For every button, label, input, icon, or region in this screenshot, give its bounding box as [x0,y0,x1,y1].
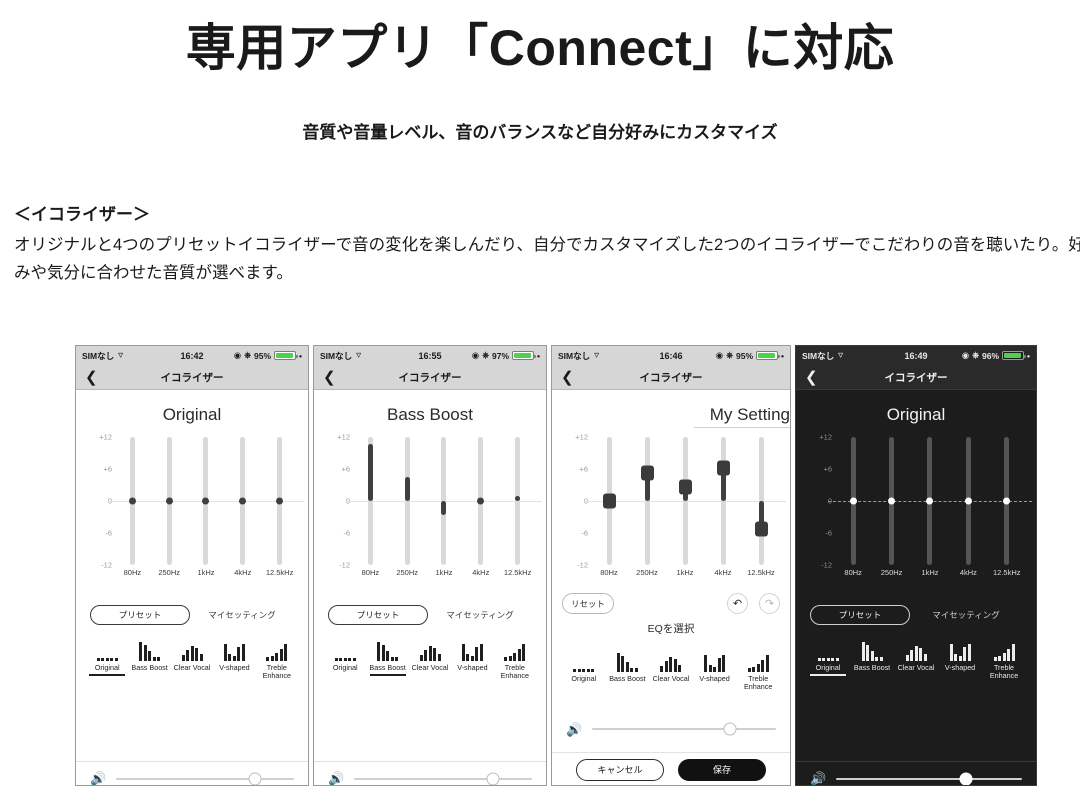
battery-icon [756,351,778,360]
eq-preset-name: My Setting [710,405,790,425]
eq-freq-label: 1kHz [428,568,460,577]
preset-bar [522,644,525,661]
preset-tabs: プリセット マイセッティング [796,605,1036,625]
eq-thumb-handle[interactable] [755,522,768,537]
preset-label: Clear Vocal [894,664,938,672]
preset-bars-icon [494,639,536,661]
phone-screenshot-strip: SIMなし ▿ 16:42 ◉ ⎈ 95% • ❮ イコライザー Origina… [75,345,1037,786]
speaker-icon: 🔊 [328,772,344,785]
headphone-icon: ⎈ [972,350,979,361]
eq-band-slider[interactable] [477,437,484,565]
preset-bar [424,650,427,661]
status-bar: SIMなし ▿ 16:42 ◉ ⎈ 95% • [76,346,308,365]
location-icon: ◉ [234,350,241,361]
eq-thumb-dot[interactable] [1003,498,1010,505]
preset-label: Original [324,664,366,672]
eq-band-slider[interactable] [850,437,857,565]
preset-bar [1012,644,1015,661]
preset-bar [509,656,512,661]
preset-item[interactable]: V-shaped [451,639,493,681]
preset-bar [968,644,971,661]
eq-freq-label: 1kHz [669,568,701,577]
speaker-icon: 🔊 [90,772,106,785]
preset-bars-icon [649,650,693,672]
eq-scale-label: +6 [823,465,832,474]
cancel-button[interactable]: キャンセル [576,759,664,781]
eq-frequency-labels: 80Hz250Hz1kHz4kHz12.5kHz [834,568,1026,577]
preset-bar [587,669,590,672]
battery-icon [1002,351,1024,360]
preset-bar [954,654,957,661]
preset-item[interactable]: Clear Vocal [171,639,213,681]
status-bar: SIMなし ▿ 16:46 ◉ ⎈ 95% • [552,346,790,365]
preset-bar [910,650,913,661]
preset-bar [353,658,356,661]
preset-label: Treble Enhance [982,664,1026,681]
eq-band-slider[interactable] [166,437,173,565]
volume-thumb[interactable] [486,772,499,785]
preset-bar [153,657,156,661]
eq-scale-label: -12 [821,561,832,570]
location-icon: ◉ [472,350,479,361]
preset-bar [635,668,638,672]
preset-bars-icon [409,639,451,661]
phone-body: Bass Boost +12+60-6-12 80Hz250Hz1kHz4kHz… [314,405,546,786]
preset-item[interactable]: V-shaped [693,650,737,692]
save-button[interactable]: 保存 [678,759,766,781]
preset-bar [963,647,966,661]
preset-bar [97,658,100,661]
phone-my-setting: SIMなし ▿ 16:46 ◉ ⎈ 95% • ❮ イコライザー My Sett… [551,345,791,786]
preset-bar [139,642,142,661]
preset-bars-icon [86,639,128,661]
eq-select-title: EQを選択 [552,621,790,636]
volume-row: 🔊 [314,761,546,786]
volume-thumb[interactable] [248,772,261,785]
preset-bar [678,665,681,672]
eq-scale-label: -6 [105,529,112,538]
eq-thumb-handle[interactable] [679,479,692,494]
eq-scale-label: +6 [341,465,350,474]
eq-thumb-handle[interactable] [641,465,654,480]
preset-bar [906,655,909,661]
preset-bar [195,648,198,661]
sim-label: SIMなし [802,350,834,362]
bolt-icon: • [1027,351,1030,361]
phone-body: Original +12+60-6-12 80Hz250Hz1kHz4kHz12… [76,405,308,786]
nav-title: イコライザー [796,370,1036,385]
status-bar: SIMなし ▿ 16:49 ◉ ⎈ 96% • [796,346,1036,365]
status-bar: SIMなし ▿ 16:55 ◉ ⎈ 97% • [314,346,546,365]
eq-thumb-dot[interactable] [965,498,972,505]
preset-bar [280,649,283,661]
eq-freq-label: 250Hz [153,568,185,577]
eq-fill[interactable] [441,501,446,515]
preset-bar [573,669,576,672]
preset-item[interactable]: Original [86,639,128,681]
preset-list: Original Bass Boost Clear Vocal V-shaped… [76,639,308,681]
preset-bars-icon [693,650,737,672]
preset-label: Original [562,675,606,683]
preset-bar [713,667,716,672]
preset-bar [704,655,707,672]
preset-item[interactable]: Treble Enhance [256,639,298,681]
preset-bar [950,644,953,661]
reset-button[interactable]: リセット [562,593,614,614]
preset-item[interactable]: Bass Boost [606,650,650,692]
preset-bars-icon [562,650,606,672]
equalizer: +12+60-6-12 80Hz250Hz1kHz4kHz12.5kHz [314,437,546,587]
chevron-left-icon[interactable]: ❮ [85,370,98,385]
preset-label: Treble Enhance [736,675,780,692]
eq-track-group [114,437,298,565]
preset-bar [377,642,380,661]
battery-percent: 95% [254,351,271,361]
preset-label: Clear Vocal [171,664,213,672]
eq-thumb-handle[interactable] [717,460,730,475]
speaker-icon: 🔊 [566,723,582,736]
preset-label: Bass Boost [606,675,650,683]
phone-original-dark: SIMなし ▿ 16:49 ◉ ⎈ 96% • ❮ イコライザー Origina… [795,345,1037,786]
status-right: ◉ ⎈ 97% • [472,350,540,361]
nav-bar: ❮ イコライザー [552,365,790,390]
location-icon: ◉ [716,350,723,361]
preset-bars-icon [806,639,850,661]
preset-bar [831,658,834,661]
preset-bar [875,657,878,661]
preset-bar [271,656,274,661]
eq-thumb-handle[interactable] [603,494,616,509]
preset-bar [665,661,668,672]
preset-bars-icon [606,650,650,672]
editor-toolbar: リセット ↶ ↷ [552,593,790,619]
eq-thumb-dot[interactable] [202,498,209,505]
chevron-left-icon[interactable]: ❮ [805,370,818,385]
bolt-icon: • [781,351,784,361]
tab-mysetting[interactable]: マイセッティング [190,609,294,621]
battery-icon [512,351,534,360]
eq-freq-label: 80Hz [593,568,625,577]
preset-bar [182,655,185,661]
preset-label: Clear Vocal [649,675,693,683]
preset-bar [157,657,160,661]
preset-bars-icon [982,639,1026,661]
preset-label: Treble Enhance [494,664,536,681]
eq-freq-label: 80Hz [354,568,386,577]
preset-label: Bass Boost [366,664,408,672]
nav-title: イコライザー [314,370,546,385]
preset-bars-icon [128,639,170,661]
nav-bar: ❮ イコライザー [796,365,1036,390]
eq-track-rail [405,437,410,565]
preset-bar [617,653,620,672]
preset-bars-icon [256,639,298,661]
preset-item[interactable]: Clear Vocal [409,639,451,681]
preset-bar [504,657,507,661]
preset-bar [242,644,245,661]
preset-item[interactable]: Bass Boost [366,639,408,681]
wifi-icon: ▿ [838,351,843,361]
eq-scale-label: -12 [339,561,350,570]
eq-band-slider[interactable] [202,437,209,565]
preset-label: Bass Boost [850,664,894,672]
preset-bar [630,668,633,672]
bolt-icon: • [299,351,302,361]
preset-item[interactable]: Bass Boost [850,639,894,681]
tab-preset[interactable]: プリセット [328,605,428,625]
eq-scale-label: +12 [575,433,588,442]
preset-bar [1007,649,1010,661]
preset-bar [386,651,389,661]
eq-thumb-dot[interactable] [166,498,173,505]
wifi-icon: ▿ [594,351,599,361]
preset-item[interactable]: Original [562,650,606,692]
eq-band-slider[interactable] [888,437,895,565]
tab-mysetting[interactable]: マイセッティング [910,609,1022,621]
preset-bar [148,651,151,661]
eq-fill[interactable] [368,444,373,501]
preset-bar [722,655,725,672]
speaker-icon: 🔊 [810,772,826,785]
eq-scale-label: +6 [579,465,588,474]
chevron-left-icon[interactable]: ❮ [323,370,336,385]
equalizer: +12+60-6-12 80Hz250Hz1kHz4kHz12.5kHz [796,437,1036,587]
preset-item[interactable]: Clear Vocal [894,639,938,681]
eq-freq-label: 80Hz [837,568,869,577]
preset-bar [862,642,865,661]
eq-track-group [590,437,780,565]
preset-bar [471,656,474,661]
eq-thumb-dot[interactable] [477,498,484,505]
volume-slider[interactable] [836,778,1022,780]
preset-bar [101,658,104,661]
status-right: ◉ ⎈ 95% • [234,350,302,361]
volume-slider[interactable] [116,778,294,780]
preset-bar [669,657,672,672]
preset-label: Clear Vocal [409,664,451,672]
eq-frequency-labels: 80Hz250Hz1kHz4kHz12.5kHz [114,568,298,577]
eq-band-slider[interactable] [1003,437,1010,565]
eq-freq-label: 4kHz [465,568,497,577]
preset-item[interactable]: V-shaped [213,639,255,681]
eq-thumb-dot[interactable] [239,498,246,505]
status-left: SIMなし ▿ [320,350,361,362]
eq-thumb-dot[interactable] [129,498,136,505]
tab-preset[interactable]: プリセット [810,605,910,625]
preset-bar [224,644,227,661]
preset-bar [871,651,874,661]
eq-band-slider[interactable] [682,437,689,565]
preset-bars-icon [850,639,894,661]
preset-bar [818,658,821,661]
nav-bar: ❮ イコライザー [76,365,308,390]
preset-selected-underline [370,674,406,676]
preset-bar [391,657,394,661]
section-title: ＜イコライザー＞ [14,200,150,225]
sim-label: SIMなし [558,350,590,362]
preset-item[interactable]: V-shaped [938,639,982,681]
preset-bar [429,646,432,661]
headphone-icon: ⎈ [482,350,489,361]
volume-thumb[interactable] [960,772,973,785]
preset-bar [822,658,825,661]
eq-band-slider[interactable] [758,437,765,565]
sim-label: SIMなし [320,350,352,362]
preset-bar [110,658,113,661]
preset-bar [866,645,869,661]
preset-bar [709,665,712,672]
preset-bar [748,668,751,672]
preset-bar [115,658,118,661]
preset-bar [200,654,203,661]
tab-mysetting[interactable]: マイセッティング [428,609,532,621]
phone-body: Original +12+60-6-12 80Hz250Hz1kHz4kHz12… [796,405,1036,786]
undo-arrow-icon[interactable]: ↶ [727,593,748,614]
preset-bar [880,657,883,661]
eq-thumb-dot[interactable] [276,498,283,505]
preset-list: Original Bass Boost Clear Vocal V-shaped… [552,650,790,692]
preset-bar [433,648,436,661]
eq-thumb-dot[interactable] [850,498,857,505]
preset-bar [344,658,347,661]
location-icon: ◉ [962,350,969,361]
section-body: オリジナルと4つのプリセットイコライザーで音の変化を楽しんだり、自分でカスタマイ… [14,232,1080,287]
status-right: ◉ ⎈ 96% • [962,350,1030,361]
battery-percent: 97% [492,351,509,361]
eq-track-group [834,437,1026,565]
eq-band-slider[interactable] [644,437,651,565]
preset-item[interactable]: Original [806,639,850,681]
eq-band-slider[interactable] [926,437,933,565]
eq-band-slider[interactable] [129,437,136,565]
eq-preset-name: Original [76,405,308,425]
eq-freq-label: 4kHz [952,568,984,577]
preset-bar [266,657,269,661]
preset-bars-icon [171,639,213,661]
redo-arrow-icon[interactable]: ↷ [759,593,780,614]
preset-bar [998,656,1001,661]
tab-preset[interactable]: プリセット [90,605,190,625]
eq-thumb-dot[interactable] [888,498,895,505]
eq-preset-name: Bass Boost [314,405,546,425]
eq-band-slider[interactable] [514,437,521,565]
preset-tabs: プリセット マイセッティング [76,605,308,625]
preset-bar [915,646,918,661]
preset-bar [106,658,109,661]
phone-bass-boost: SIMなし ▿ 16:55 ◉ ⎈ 97% • ❮ イコライザー Bass Bo… [313,345,547,786]
preset-bar [1003,653,1006,661]
preset-item[interactable]: Treble Enhance [494,639,536,681]
bolt-icon: • [537,351,540,361]
eq-freq-label: 1kHz [914,568,946,577]
eq-band-slider[interactable] [606,437,613,565]
nav-bar: ❮ イコライザー [314,365,546,390]
eq-scale-label: +12 [337,433,350,442]
volume-slider[interactable] [592,728,776,730]
volume-row: 🔊 [76,761,308,786]
eq-freq-label: 12.5kHz [502,568,534,577]
eq-fill[interactable] [405,477,410,501]
preset-bar [191,646,194,661]
preset-bar [621,656,624,672]
preset-bars-icon [366,639,408,661]
preset-label: Treble Enhance [256,664,298,681]
preset-label: V-shaped [451,664,493,672]
equalizer: +12+60-6-12 80Hz250Hz1kHz4kHz12.5kHz [76,437,308,587]
chevron-left-icon[interactable]: ❮ [561,370,574,385]
eq-band-slider[interactable] [965,437,972,565]
preset-bar [994,657,997,661]
preset-selected-underline [89,674,125,676]
eq-scale-label: -6 [581,529,588,538]
preset-bar [836,658,839,661]
volume-row: 🔊 [552,712,790,746]
volume-thumb[interactable] [724,723,737,736]
eq-freq-label: 4kHz [227,568,259,577]
eq-freq-label: 80Hz [116,568,148,577]
preset-bar [518,649,521,661]
preset-bars-icon [451,639,493,661]
eq-band-slider[interactable] [440,437,447,565]
preset-bar [513,653,516,661]
eq-band-slider[interactable] [276,437,283,565]
preset-bar [466,654,469,661]
eq-freq-label: 1kHz [190,568,222,577]
eq-band-slider[interactable] [720,437,727,565]
preset-bar [718,658,721,672]
eq-scale-label: +12 [99,433,112,442]
preset-label: V-shaped [938,664,982,672]
preset-label: Original [806,664,850,672]
preset-bar [438,654,441,661]
preset-bar [757,664,760,672]
eq-frequency-labels: 80Hz250Hz1kHz4kHz12.5kHz [352,568,536,577]
eq-track-rail [645,437,650,565]
eq-frequency-labels: 80Hz250Hz1kHz4kHz12.5kHz [590,568,780,577]
status-left: SIMなし ▿ [558,350,599,362]
preset-bar [660,666,663,672]
preset-item[interactable]: Bass Boost [128,639,170,681]
preset-bars-icon [324,639,366,661]
phone-body: My Setting +12+60-6-12 80Hz250Hz1kHz4kHz… [552,390,790,786]
eq-track-rail [721,437,726,565]
eq-thumb-dot[interactable] [926,498,933,505]
volume-slider[interactable] [354,778,532,780]
preset-item[interactable]: Treble Enhance [736,650,780,692]
preset-bar [275,653,278,661]
eq-scale-label: -6 [825,529,832,538]
preset-item[interactable]: Treble Enhance [982,639,1026,681]
preset-item[interactable]: Original [324,639,366,681]
eq-band-slider[interactable] [404,437,411,565]
eq-track-group [352,437,536,565]
preset-bars-icon [736,650,780,672]
page-title: 専用アプリ「Connect」に対応 [0,20,1080,78]
page-root: 専用アプリ「Connect」に対応 音質や音量レベル、音のバランスなど自分好みに… [0,0,1080,786]
editor-actions: キャンセル 保存 [552,752,790,782]
preset-bar [924,654,927,661]
preset-item[interactable]: Clear Vocal [649,650,693,692]
wifi-icon: ▿ [118,351,123,361]
preset-bar [480,644,483,661]
eq-band-slider[interactable] [239,437,246,565]
preset-bar [395,657,398,661]
preset-bar [827,658,830,661]
preset-bar [761,660,764,672]
eq-band-slider[interactable] [367,437,374,565]
preset-bar [462,644,465,661]
eq-freq-label: 12.5kHz [991,568,1023,577]
